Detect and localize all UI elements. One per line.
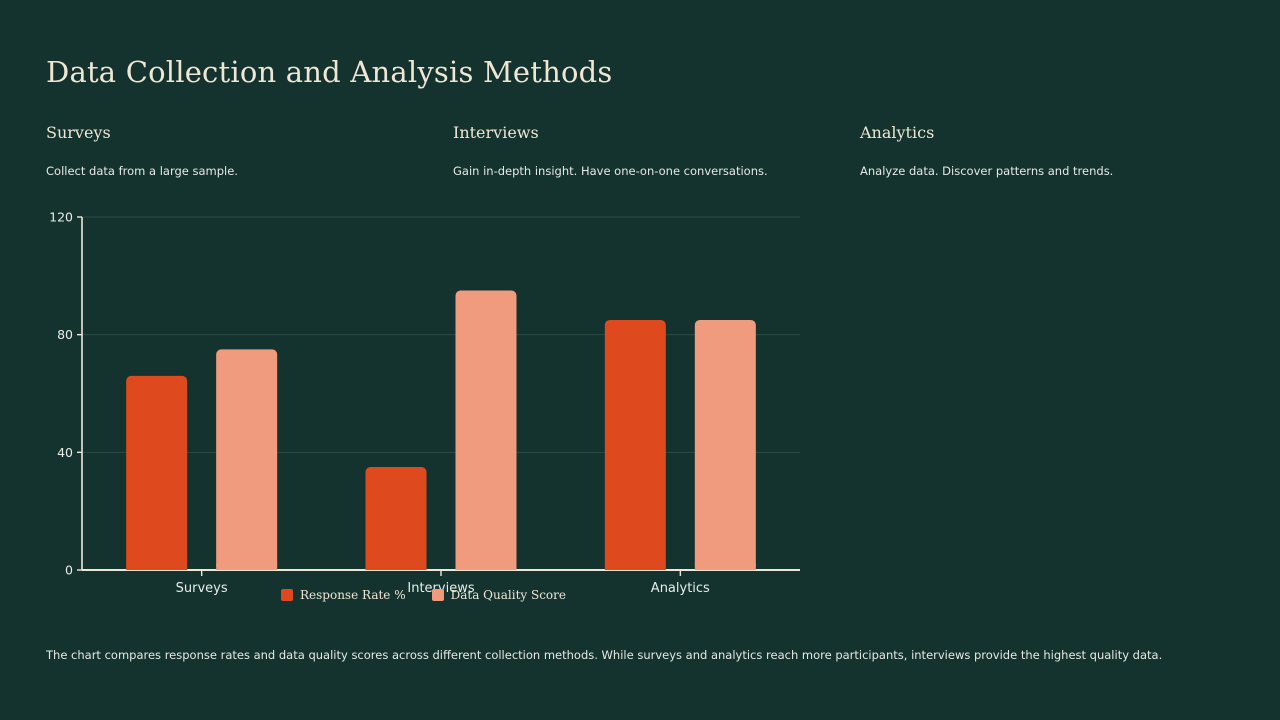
slide-root: Data Collection and Analysis Methods Sur…	[0, 0, 1280, 720]
chart-bar[interactable]	[126, 376, 187, 570]
y-axis-tick-label: 40	[57, 445, 73, 460]
column-heading-interviews: Interviews	[453, 124, 860, 142]
bar-chart: 04080120SurveysInterviewsAnalytics	[46, 205, 806, 615]
chart-bar-base	[366, 564, 427, 570]
chart-canvas: 04080120SurveysInterviewsAnalytics	[46, 205, 806, 605]
chart-bar[interactable]	[216, 349, 277, 570]
column-description-surveys: Collect data from a large sample.	[46, 164, 453, 180]
chart-legend: Response Rate % Data Quality Score	[46, 588, 801, 602]
y-axis-tick-label: 120	[49, 210, 73, 225]
legend-label-response-rate: Response Rate %	[300, 588, 406, 602]
column-interviews: Interviews Gain in-depth insight. Have o…	[453, 124, 860, 179]
chart-bar[interactable]	[605, 320, 666, 570]
chart-bar[interactable]	[695, 320, 756, 570]
legend-item-data-quality[interactable]: Data Quality Score	[432, 588, 566, 602]
legend-item-response-rate[interactable]: Response Rate %	[281, 588, 406, 602]
chart-bar-base	[216, 564, 277, 570]
column-heading-analytics: Analytics	[860, 124, 1267, 142]
column-description-analytics: Analyze data. Discover patterns and tren…	[860, 164, 1267, 180]
chart-bar-base	[456, 564, 517, 570]
feature-columns: Surveys Collect data from a large sample…	[46, 124, 1236, 179]
chart-caption: The chart compares response rates and da…	[46, 647, 1236, 663]
column-description-interviews: Gain in-depth insight. Have one-on-one c…	[453, 164, 860, 180]
column-heading-surveys: Surveys	[46, 124, 453, 142]
column-surveys: Surveys Collect data from a large sample…	[46, 124, 453, 179]
chart-bar[interactable]	[456, 291, 517, 570]
chart-bar-base	[605, 564, 666, 570]
chart-bar[interactable]	[366, 467, 427, 570]
y-axis-tick-label: 0	[65, 563, 73, 578]
legend-label-data-quality: Data Quality Score	[451, 588, 566, 602]
chart-bar-base	[126, 564, 187, 570]
y-axis-tick-label: 80	[57, 327, 73, 342]
legend-swatch-response-rate	[281, 589, 293, 601]
column-analytics: Analytics Analyze data. Discover pattern…	[860, 124, 1267, 179]
page-title: Data Collection and Analysis Methods	[46, 55, 612, 89]
legend-swatch-data-quality	[432, 589, 444, 601]
chart-bar-base	[695, 564, 756, 570]
